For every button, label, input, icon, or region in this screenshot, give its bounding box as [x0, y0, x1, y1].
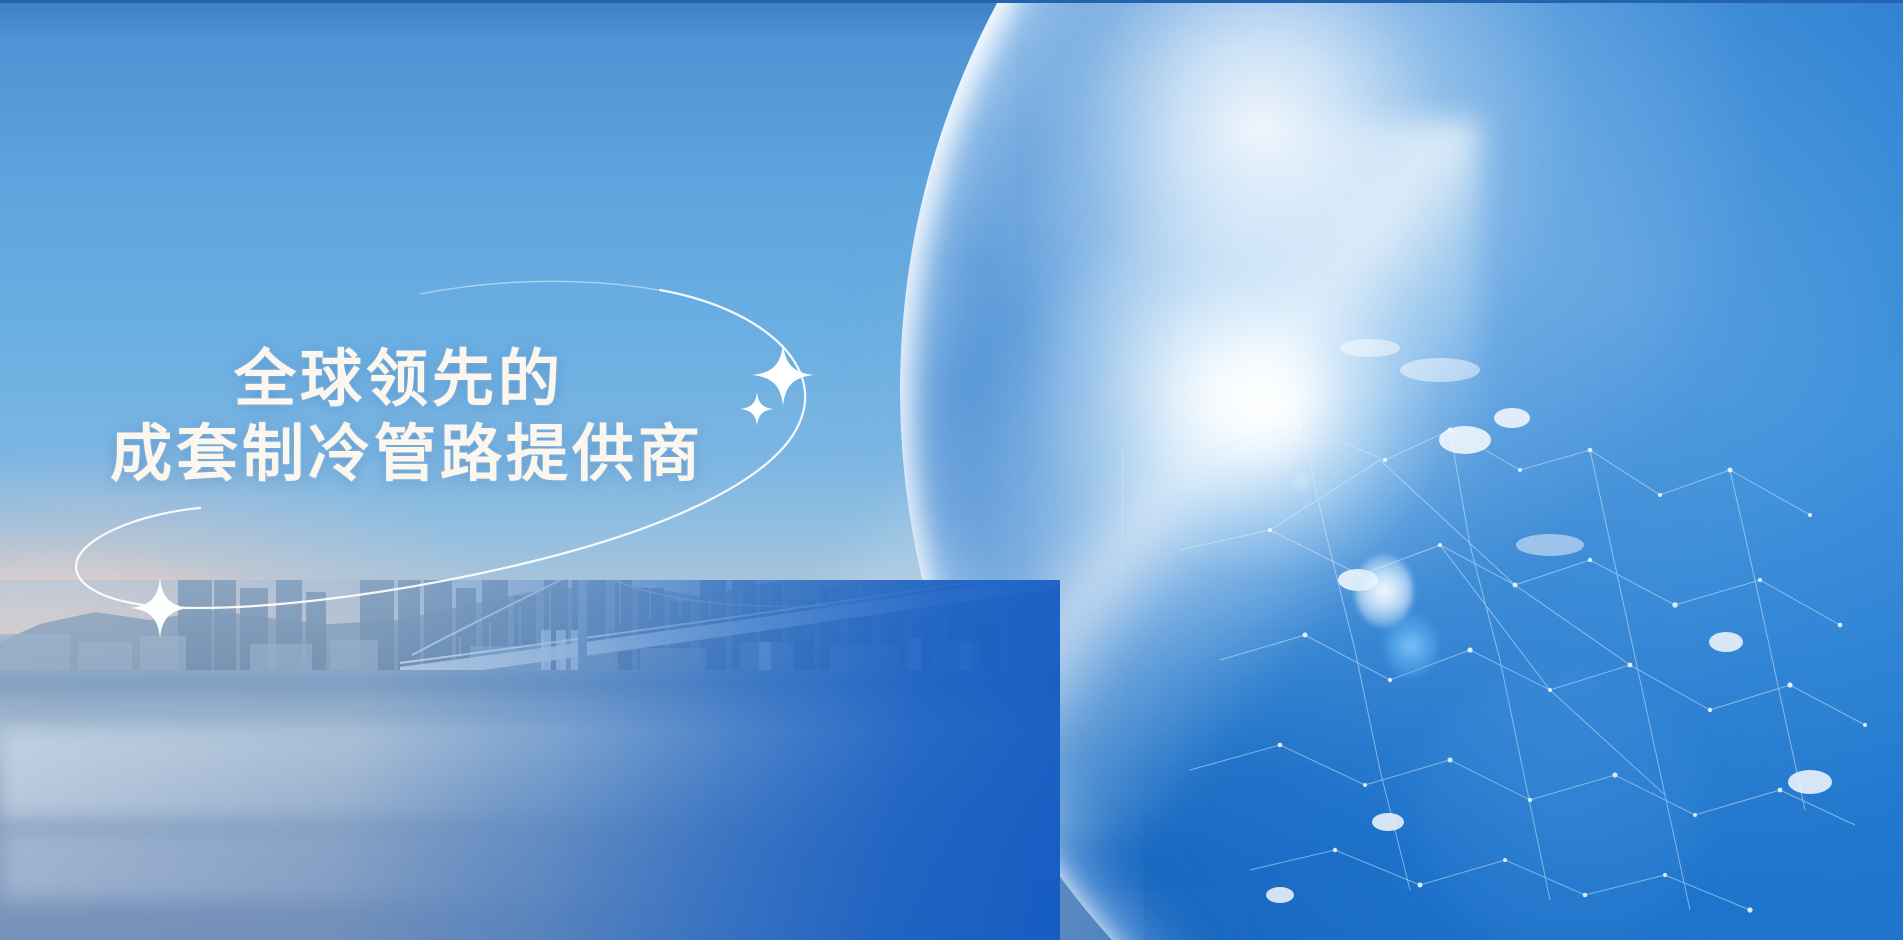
- hero-banner: 全球领先的 成套制冷管路提供商: [0, 0, 1903, 940]
- water-highlight-secondary: [0, 830, 760, 900]
- water-highlight: [0, 730, 900, 820]
- top-edge-strip: [0, 0, 1903, 3]
- cloud-layer: [1800, 0, 1903, 780]
- harbor-photo: [0, 580, 1060, 940]
- headline-line-1: 全球领先的: [110, 342, 704, 418]
- banner-headline: 全球领先的 成套制冷管路提供商: [110, 342, 704, 493]
- headline-line-2: 成套制冷管路提供商: [110, 417, 704, 493]
- flare-edge-line: [1122, 450, 1123, 640]
